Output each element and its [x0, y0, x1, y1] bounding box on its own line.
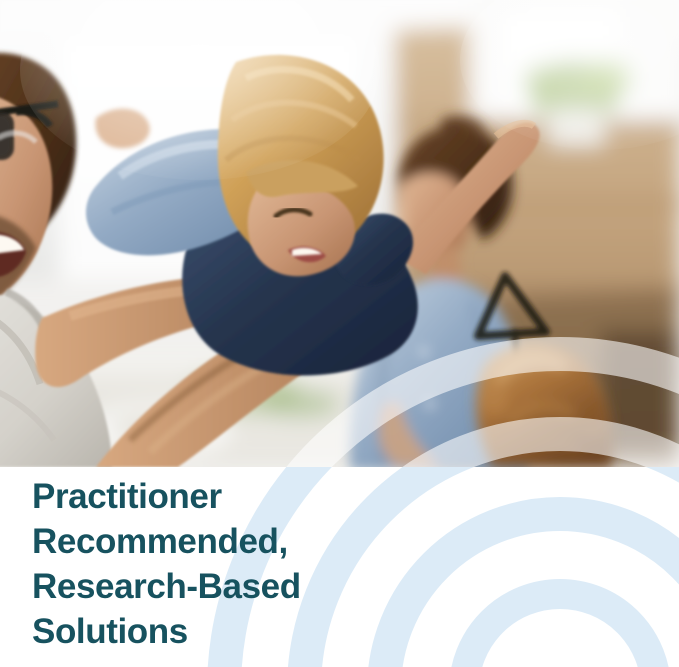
headline-block: Practitioner Recommended, Research-Based…	[0, 467, 679, 667]
page-title: Practitioner Recommended, Research-Based…	[32, 474, 452, 654]
headline-line-4: Solutions	[32, 609, 452, 654]
headline-line-1: Practitioner	[32, 474, 452, 519]
headline-line-3: Research-Based	[32, 564, 452, 609]
promo-banner: Practitioner Recommended, Research-Based…	[0, 0, 679, 667]
hero-photo	[0, 0, 679, 467]
headline-line-2: Recommended,	[32, 519, 452, 564]
